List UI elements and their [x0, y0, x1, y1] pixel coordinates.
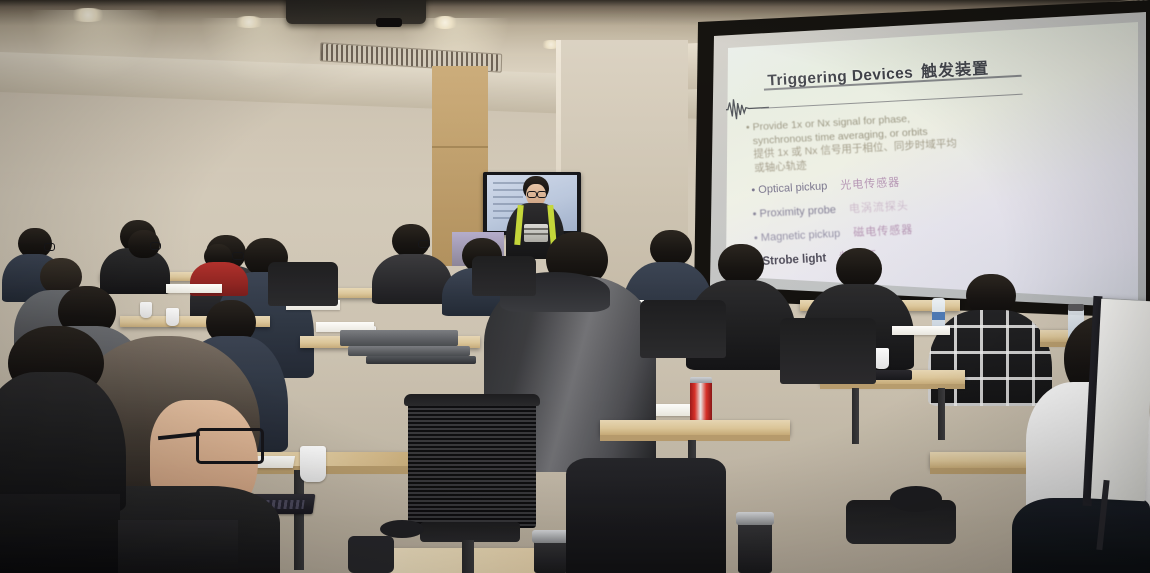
wood-panel-seam	[432, 146, 488, 148]
thermos-cap	[532, 530, 570, 543]
desk-leg	[294, 470, 304, 570]
laptop	[340, 330, 458, 346]
laptop	[366, 356, 476, 364]
paper-cup	[874, 348, 889, 369]
slide-bullet-3-cn: 电涡流探头	[849, 200, 910, 215]
bottle-cap	[1068, 304, 1084, 311]
glasses-icon	[527, 191, 537, 198]
ceiling-projector	[286, 0, 426, 24]
attendee-head	[836, 248, 882, 288]
slide-bullet-4-cn: 磁电传感器	[853, 224, 914, 239]
attendee-body	[928, 310, 1052, 406]
slide-bullet-1: • Provide 1x or Nx signal for phase, syn…	[746, 110, 958, 175]
chair-top-rail	[404, 394, 540, 406]
slide-bullet-4: • Magnetic pickup 磁电传感器	[754, 224, 914, 246]
slide-accent-rule	[761, 94, 1023, 110]
attendee-body	[0, 494, 120, 573]
projector-lens-icon	[376, 18, 402, 27]
recessed-spotlight-icon	[68, 8, 108, 22]
chair-post	[462, 540, 474, 573]
glasses-icon	[44, 243, 55, 251]
laptop	[348, 346, 470, 356]
recessed-spotlight-icon	[232, 16, 266, 28]
slide-bullet-2-text: • Optical pickup	[751, 180, 828, 196]
chair-seat	[420, 522, 520, 542]
glasses-icon	[232, 252, 244, 260]
glasses-icon	[537, 191, 547, 198]
chair-base	[348, 536, 394, 573]
office-chair	[780, 318, 876, 384]
soda-can-lid	[690, 377, 712, 383]
document-handout	[892, 326, 950, 335]
thermos-cap	[736, 512, 774, 525]
recessed-spotlight-icon	[430, 16, 460, 29]
office-chair	[268, 262, 338, 306]
document-handout	[166, 284, 222, 293]
desk-leg	[852, 388, 859, 444]
attendee-head	[650, 230, 692, 266]
slide-bullet-3: • Proximity probe 电涡流探头	[752, 200, 909, 222]
slide-bullet-3-text: • Proximity probe	[752, 204, 836, 220]
desk	[600, 420, 790, 435]
slide-bullet-4-text: • Magnetic pickup	[754, 228, 841, 245]
glasses-icon	[418, 240, 430, 248]
paper-cup	[300, 446, 326, 482]
attendee-body	[566, 458, 726, 573]
attendee-body	[118, 520, 238, 573]
chair-caster	[890, 486, 942, 512]
flip-chart-whiteboard	[1091, 299, 1150, 502]
slide-bullet-2: • Optical pickup 光电传感器	[751, 176, 901, 198]
glasses-icon	[196, 428, 264, 464]
attendee-head	[718, 244, 764, 284]
office-chair	[408, 398, 536, 528]
paper-cup	[166, 308, 179, 326]
classroom-photo: Triggering Devices触发装置 • Provide 1x or N…	[0, 0, 1150, 573]
glasses-icon	[150, 242, 161, 250]
attendee-body	[372, 254, 452, 304]
office-chair	[472, 256, 536, 296]
light-glow	[200, 18, 320, 84]
slide-title: Triggering Devices触发装置	[767, 49, 1088, 90]
slide-bullet-5-text: • Strobe light	[755, 253, 827, 269]
attendee-body	[1012, 498, 1150, 573]
desk-leg	[938, 388, 945, 440]
office-chair	[640, 300, 726, 358]
bottle-label	[932, 312, 945, 320]
paper-cup	[140, 302, 152, 318]
slide-bullet-2-cn: 光电传感器	[840, 176, 901, 191]
